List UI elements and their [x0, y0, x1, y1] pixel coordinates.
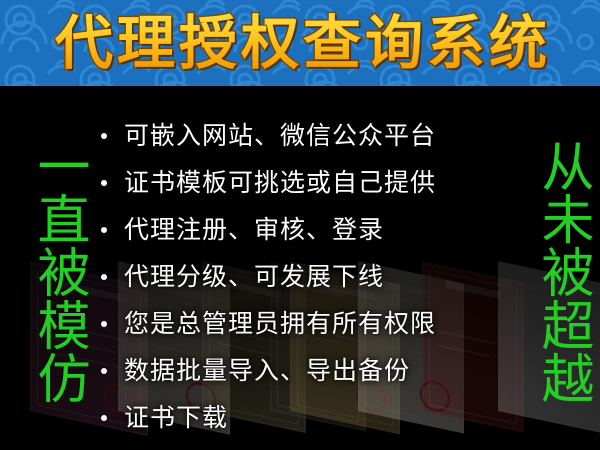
feature-label: 可嵌入网站、微信公众平台: [98, 112, 436, 159]
slogan-left: 一直被模仿: [10, 96, 84, 446]
bullet-icon: [101, 227, 107, 233]
feature-item: 可嵌入网站、微信公众平台: [98, 112, 518, 159]
poster-canvas: 代理授权查询系统 代理授权查询系统: [0, 0, 600, 450]
feature-list: 可嵌入网站、微信公众平台 证书模板可挑选或自己提供 代理注册、审核、登录 代理分…: [98, 112, 518, 441]
slogan-right: 从未被超越: [514, 96, 588, 446]
bullet-icon: [101, 274, 107, 280]
feature-item: 代理分级、可发展下线: [98, 253, 518, 300]
feature-label: 证书模板可挑选或自己提供: [98, 159, 436, 206]
feature-label: 代理注册、审核、登录: [98, 206, 384, 253]
feature-label: 数据批量导入、导出备份: [98, 347, 410, 394]
feature-item: 证书下载: [98, 394, 518, 441]
feature-item: 证书模板可挑选或自己提供: [98, 159, 518, 206]
bullet-icon: [101, 133, 107, 139]
bullet-icon: [101, 321, 107, 327]
page-title: 代理授权查询系统: [0, 0, 600, 86]
bullet-icon: [101, 368, 107, 374]
feature-item: 数据批量导入、导出备份: [98, 347, 518, 394]
feature-label: 证书下载: [98, 394, 228, 441]
bullet-icon: [101, 415, 107, 421]
feature-label: 您是总管理员拥有所有权限: [98, 300, 436, 347]
header-banner: 代理授权查询系统 代理授权查询系统: [0, 0, 600, 86]
bullet-icon: [101, 180, 107, 186]
feature-item: 代理注册、审核、登录: [98, 206, 518, 253]
feature-item: 您是总管理员拥有所有权限: [98, 300, 518, 347]
feature-label: 代理分级、可发展下线: [98, 253, 384, 300]
